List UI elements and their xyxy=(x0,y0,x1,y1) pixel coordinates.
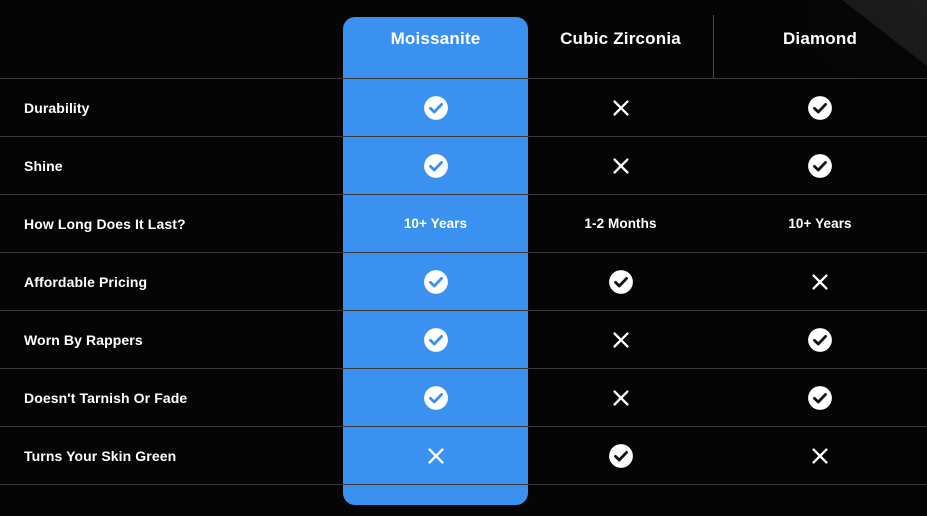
row-label: How Long Does It Last? xyxy=(0,216,343,232)
cell-cubic-zirconia: 1-2 Months xyxy=(528,216,713,231)
row-label: Turns Your Skin Green xyxy=(0,448,343,464)
comparison-table-widget: Moissanite Cubic Zirconia Diamond Durabi… xyxy=(0,0,927,516)
check-circle-icon xyxy=(423,95,449,121)
cell-diamond: 10+ Years xyxy=(713,216,927,231)
cell-cubic-zirconia xyxy=(528,443,713,469)
cross-icon xyxy=(610,387,632,409)
cell-diamond xyxy=(713,385,927,411)
cross-icon xyxy=(610,97,632,119)
header-cell-diamond[interactable]: Diamond xyxy=(713,29,927,49)
check-circle-icon xyxy=(807,327,833,353)
cell-cubic-zirconia xyxy=(528,387,713,409)
cell-value-text: 1-2 Months xyxy=(584,216,656,231)
header-cell-cubic-zirconia[interactable]: Cubic Zirconia xyxy=(528,29,713,49)
check-circle-icon xyxy=(423,385,449,411)
cell-moissanite xyxy=(343,327,528,353)
cell-diamond xyxy=(713,271,927,293)
cell-moissanite xyxy=(343,445,528,467)
cross-icon xyxy=(610,155,632,177)
cross-icon xyxy=(610,329,632,351)
table-row: Durability xyxy=(0,79,927,137)
row-label: Shine xyxy=(0,158,343,174)
cell-moissanite xyxy=(343,269,528,295)
row-label: Worn By Rappers xyxy=(0,332,343,348)
check-circle-icon xyxy=(807,95,833,121)
cell-cubic-zirconia xyxy=(528,155,713,177)
cross-icon xyxy=(809,445,831,467)
cell-moissanite xyxy=(343,153,528,179)
check-circle-icon xyxy=(423,269,449,295)
row-label: Affordable Pricing xyxy=(0,274,343,290)
row-label: Doesn't Tarnish Or Fade xyxy=(0,390,343,406)
cell-diamond xyxy=(713,327,927,353)
table-row: Turns Your Skin Green xyxy=(0,427,927,485)
header-cell-moissanite[interactable]: Moissanite xyxy=(343,29,528,49)
cross-icon xyxy=(425,445,447,467)
cell-value-text: 10+ Years xyxy=(788,216,851,231)
cell-cubic-zirconia xyxy=(528,329,713,351)
row-label: Durability xyxy=(0,100,343,116)
table-row: Worn By Rappers xyxy=(0,311,927,369)
table-header-row: Moissanite Cubic Zirconia Diamond xyxy=(0,0,927,79)
header-column-divider xyxy=(713,15,714,78)
cell-diamond xyxy=(713,153,927,179)
table-body: DurabilityShineHow Long Does It Last?10+… xyxy=(0,79,927,485)
table-row: How Long Does It Last?10+ Years1-2 Month… xyxy=(0,195,927,253)
cell-value-text: 10+ Years xyxy=(404,216,467,231)
cell-cubic-zirconia xyxy=(528,269,713,295)
check-circle-icon xyxy=(608,443,634,469)
cell-cubic-zirconia xyxy=(528,97,713,119)
cell-moissanite xyxy=(343,385,528,411)
check-circle-icon xyxy=(608,269,634,295)
cell-diamond xyxy=(713,95,927,121)
table-row: Doesn't Tarnish Or Fade xyxy=(0,369,927,427)
cell-moissanite: 10+ Years xyxy=(343,216,528,231)
cell-moissanite xyxy=(343,95,528,121)
table-row: Shine xyxy=(0,137,927,195)
check-circle-icon xyxy=(423,153,449,179)
cross-icon xyxy=(809,271,831,293)
check-circle-icon xyxy=(807,385,833,411)
check-circle-icon xyxy=(807,153,833,179)
comparison-table: Moissanite Cubic Zirconia Diamond Durabi… xyxy=(0,0,927,516)
check-circle-icon xyxy=(423,327,449,353)
cell-diamond xyxy=(713,445,927,467)
table-row: Affordable Pricing xyxy=(0,253,927,311)
